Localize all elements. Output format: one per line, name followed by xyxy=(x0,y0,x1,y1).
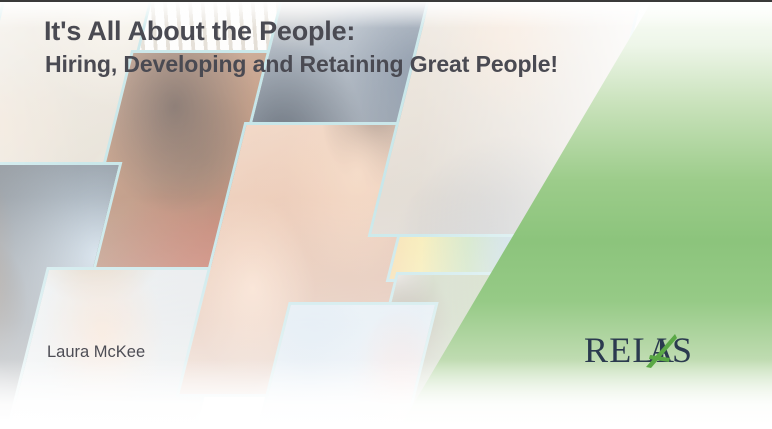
relias-logo: RELI S A xyxy=(584,328,726,374)
page-subtitle: Hiring, Developing and Retaining Great P… xyxy=(45,50,558,79)
relias-logo-icon: RELI S A xyxy=(584,328,726,374)
title-block: It's All About the People: Hiring, Devel… xyxy=(44,16,558,79)
page-title: It's All About the People: xyxy=(44,16,558,48)
presentation-title-slide: It's All About the People: Hiring, Devel… xyxy=(0,0,772,429)
presenter-name: Laura McKee xyxy=(47,343,145,362)
